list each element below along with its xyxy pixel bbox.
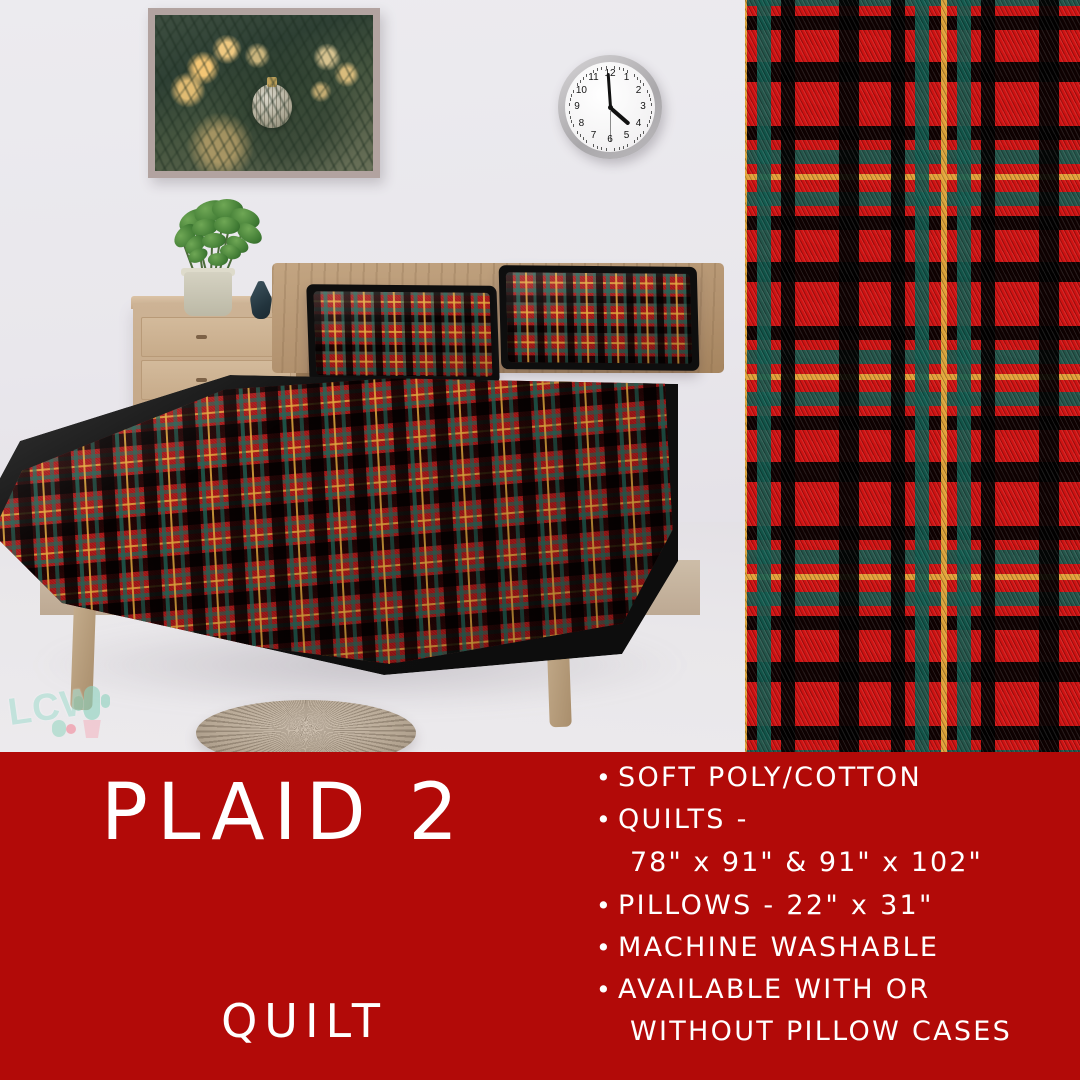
decorative-vase (250, 281, 272, 319)
clock-tick (583, 77, 584, 80)
clock-tick (651, 111, 652, 114)
clock-numeral: 5 (620, 131, 634, 141)
pillow-plaid-face (506, 272, 692, 364)
clock-tick (601, 147, 602, 150)
clock-tick (571, 120, 572, 123)
clock-numeral: 3 (636, 102, 650, 112)
clock-tick (573, 124, 574, 127)
room-photo-panel: 121234567891011 (0, 0, 745, 752)
clock-tick (606, 66, 607, 69)
drawer-pull-lower (196, 378, 207, 382)
list-item: • PILLOWS - 22" x 31" (596, 888, 1074, 924)
clock-tick (640, 134, 641, 137)
clock-tick (597, 68, 598, 71)
clock-numeral: 7 (587, 131, 601, 141)
clock-tick (634, 140, 635, 143)
clock-tick (614, 148, 615, 151)
clock-tick (651, 103, 652, 106)
clock-tick (634, 74, 635, 77)
cactus-arm-left-icon (74, 696, 83, 711)
clock-numeral: 10 (574, 86, 588, 96)
clock-tick (647, 124, 648, 127)
clock-tick (623, 68, 624, 71)
clock-tick (593, 70, 594, 73)
wall-clock: 121234567891011 (558, 55, 662, 159)
bullet-icon: • (596, 760, 618, 796)
clock-tick (614, 66, 615, 69)
product-graphic: 121234567891011 (0, 0, 1080, 1080)
list-item-label: QUILTS - (618, 802, 1074, 838)
clock-numeral: 4 (632, 119, 646, 129)
clock-tick (583, 137, 584, 140)
clock-tick (643, 83, 644, 86)
clock-tick (647, 90, 648, 93)
plaid-pillow-left (306, 284, 500, 384)
clock-tick (619, 147, 620, 150)
clock-numeral: 1 (620, 73, 634, 83)
cactus-arm-right-icon (101, 694, 110, 708)
clock-tick (577, 83, 578, 86)
clock-face: 121234567891011 (565, 62, 655, 152)
bullet-icon: • (596, 888, 618, 924)
clock-numeral: 11 (587, 73, 601, 83)
clock-numeral: 6 (603, 135, 617, 145)
clock-tick (650, 98, 651, 101)
flower-icon (66, 724, 76, 734)
clock-tick (643, 131, 644, 134)
ornament-icon (252, 84, 292, 128)
bullet-icon: • (596, 802, 618, 838)
list-item-detail: 78" x 91" & 91" x 102" (630, 844, 1074, 882)
drawer-pull-upper (196, 335, 207, 339)
cactus-icon (84, 686, 100, 720)
framed-wall-art (148, 8, 380, 178)
clock-numeral: 9 (570, 102, 584, 112)
list-item-label: MACHINE WASHABLE (618, 930, 1074, 966)
clock-numeral: 12 (603, 69, 617, 79)
list-item-detail: WITHOUT PILLOW CASES (630, 1014, 1074, 1050)
clock-tick (570, 116, 571, 119)
clock-numeral: 2 (632, 86, 646, 96)
list-item-label: PILLOWS - 22" x 31" (618, 888, 1074, 924)
list-item: • AVAILABLE WITH OR (596, 972, 1074, 1008)
plant-pot (184, 272, 232, 316)
tartan-plaid-swatch (745, 0, 1080, 752)
clock-tick (571, 94, 572, 97)
plant-foliage (190, 215, 230, 275)
clock-tick (580, 80, 581, 83)
bullet-icon: • (596, 972, 618, 1008)
clock-tick (577, 131, 578, 134)
clock-tick (570, 98, 571, 101)
clock-tick (627, 144, 628, 147)
clock-tick (597, 146, 598, 149)
flower-pot-icon (82, 720, 102, 738)
clock-tick (606, 148, 607, 151)
clock-tick (586, 74, 587, 77)
clock-tick (601, 67, 602, 70)
brand-watermark: LCW (2, 668, 134, 752)
clock-tick (649, 94, 650, 97)
pillow-plaid-face (313, 291, 492, 376)
list-item: • MACHINE WASHABLE (596, 930, 1074, 966)
clock-tick (569, 103, 570, 106)
clock-tick (650, 116, 651, 119)
product-type-label: QUILT (0, 998, 608, 1044)
plaid-pillow-right (499, 265, 700, 371)
clock-numeral: 8 (574, 119, 588, 129)
list-item: • QUILTS - (596, 802, 1074, 838)
tartan-twill-weave (745, 0, 1080, 752)
list-item-label: SOFT POLY/COTTON (618, 760, 1074, 796)
clock-tick (580, 134, 581, 137)
clock-tick (637, 77, 638, 80)
clock-center-pin (608, 105, 613, 110)
clock-tick (573, 90, 574, 93)
small-cactus-icon (52, 720, 66, 737)
bullet-icon: • (596, 930, 618, 966)
clock-tick (593, 144, 594, 147)
clock-tick (649, 120, 650, 123)
feature-list: • SOFT POLY/COTTON • QUILTS - 78" x 91" … (596, 760, 1074, 1056)
clock-tick (637, 137, 638, 140)
clock-tick (627, 70, 628, 73)
list-item-label: AVAILABLE WITH OR (618, 972, 1074, 1008)
clock-tick (640, 80, 641, 83)
clock-tick (569, 111, 570, 114)
clock-tick (619, 67, 620, 70)
clock-tick (623, 146, 624, 149)
page-title: PLAID 2 (0, 774, 568, 852)
info-banner: PLAID 2 QUILT • SOFT POLY/COTTON • QUILT… (0, 752, 1080, 1080)
clock-tick (586, 140, 587, 143)
list-item: • SOFT POLY/COTTON (596, 760, 1074, 796)
nightstand-drawer-upper (141, 317, 291, 357)
christmas-tree-bokeh-image (155, 15, 373, 171)
